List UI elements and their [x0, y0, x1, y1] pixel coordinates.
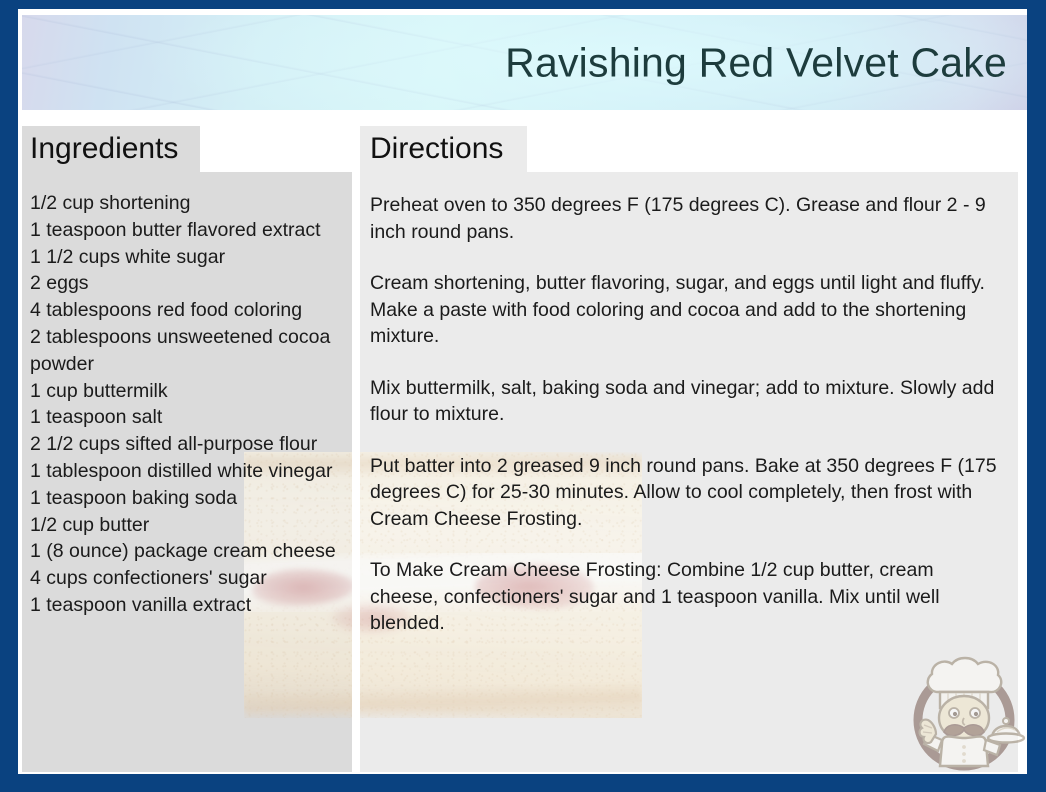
ingredients-list: 1/2 cup shortening1 teaspoon butter flav…	[22, 190, 352, 619]
ingredient-item: 1 teaspoon salt	[30, 404, 346, 431]
directions-header-tab: Directions	[360, 126, 527, 172]
directions-list: Preheat oven to 350 degrees F (175 degre…	[360, 192, 1018, 637]
ingredient-item: 1 teaspoon baking soda	[30, 485, 346, 512]
ingredient-item: 4 tablespoons red food coloring	[30, 297, 346, 324]
panel-gutter	[352, 172, 360, 772]
ingredients-heading: Ingredients	[30, 134, 178, 164]
ingredient-item: 1 teaspoon butter flavored extract	[30, 217, 346, 244]
direction-step: To Make Cream Cheese Frosting: Combine 1…	[370, 557, 1006, 637]
page-title: Ravishing Red Velvet Cake	[505, 41, 1007, 84]
frame-bottom-border	[0, 774, 1046, 792]
direction-step: Put batter into 2 greased 9 inch round p…	[370, 453, 1006, 533]
direction-step: Preheat oven to 350 degrees F (175 degre…	[370, 192, 1006, 245]
frame-top-border	[0, 0, 1046, 9]
directions-heading: Directions	[370, 134, 503, 164]
ingredients-header-tab: Ingredients	[22, 126, 200, 172]
frame-right-border	[1027, 0, 1046, 792]
ingredient-item: 1/2 cup butter	[30, 512, 346, 539]
frame-left-border	[0, 0, 18, 792]
title-banner: Ravishing Red Velvet Cake	[22, 15, 1027, 110]
ingredient-item: 1 (8 ounce) package cream cheese	[30, 538, 346, 565]
recipe-card: Ravishing Red Velvet Cake Ingredients Di…	[0, 0, 1046, 792]
ingredient-item: 4 cups confectioners' sugar	[30, 565, 346, 592]
ingredient-item: 2 eggs	[30, 270, 346, 297]
ingredient-item: 1 1/2 cups white sugar	[30, 244, 346, 271]
ingredient-item: 2 1/2 cups sifted all-purpose flour	[30, 431, 346, 458]
ingredient-item: 1/2 cup shortening	[30, 190, 346, 217]
ingredient-item: 1 cup buttermilk	[30, 378, 346, 405]
ingredient-item: 1 tablespoon distilled white vinegar	[30, 458, 346, 485]
ingredient-item: 2 tablespoons unsweetened cocoa powder	[30, 324, 346, 378]
direction-step: Cream shortening, butter flavoring, suga…	[370, 270, 1006, 350]
direction-step: Mix buttermilk, salt, baking soda and vi…	[370, 375, 1006, 428]
ingredient-item: 1 teaspoon vanilla extract	[30, 592, 346, 619]
